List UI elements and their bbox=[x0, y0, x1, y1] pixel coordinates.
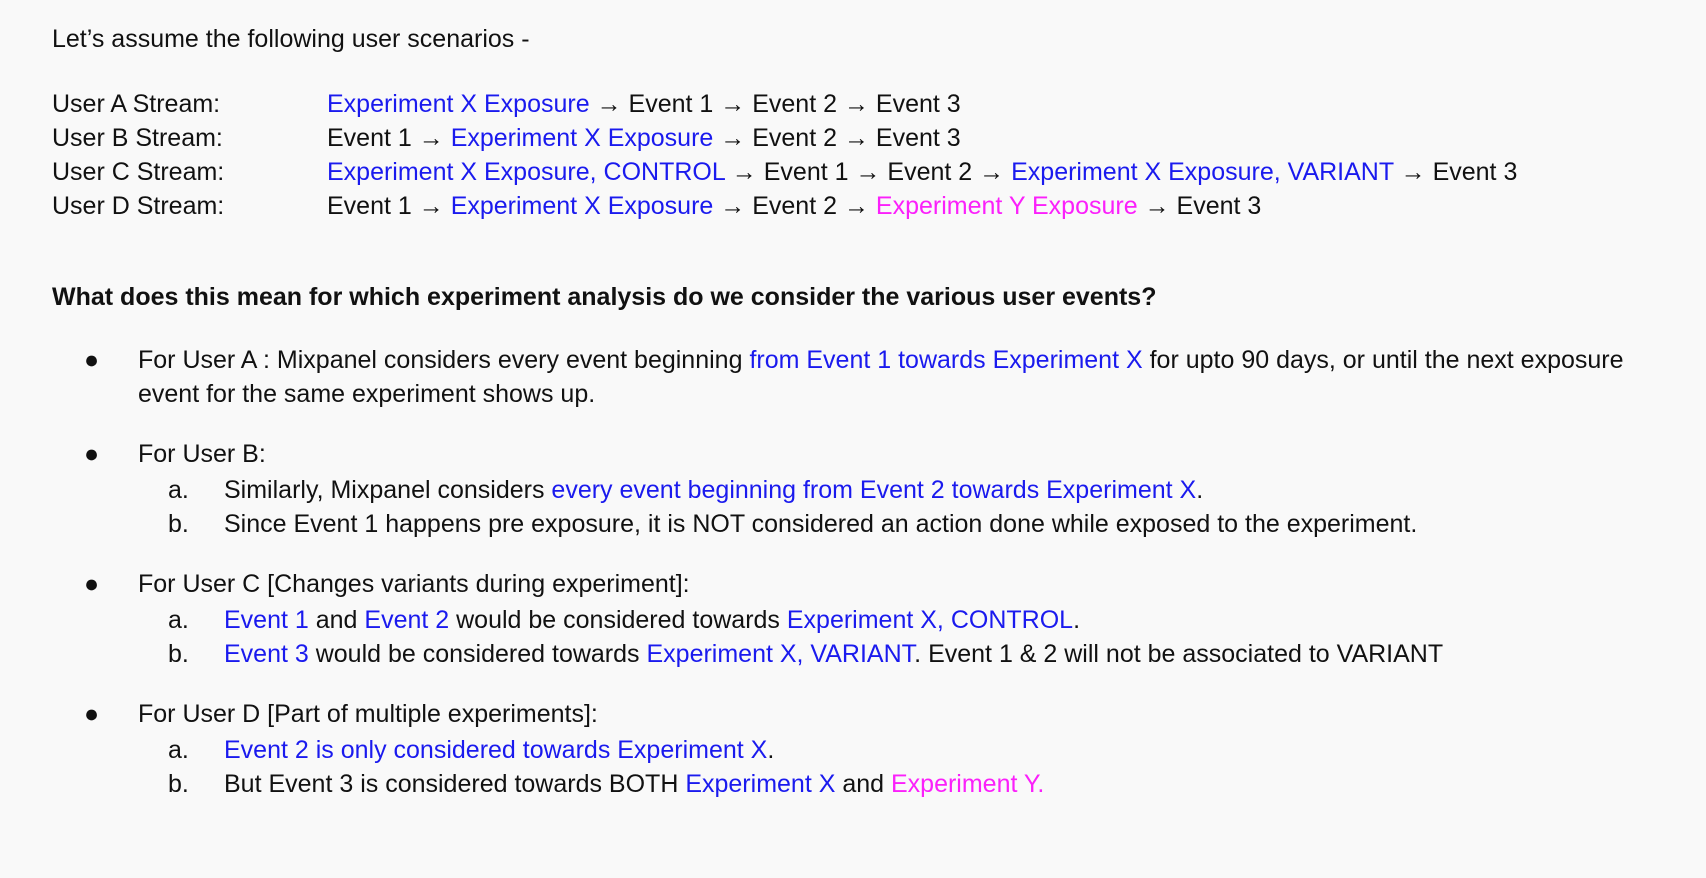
text-segment: → bbox=[1138, 192, 1177, 220]
text-segment: Experiment X Exposure bbox=[451, 192, 714, 220]
text-segment: . Event 1 & 2 will not be associated to … bbox=[914, 640, 1443, 668]
sub-item-text: Since Event 1 happens pre exposure, it i… bbox=[224, 510, 1417, 538]
text-segment: Event 2 bbox=[752, 124, 837, 152]
text-segment: → bbox=[725, 158, 764, 186]
text-segment: every event beginning from Event 2 towar… bbox=[551, 476, 1196, 504]
sub-item: b.But Event 3 is considered towards BOTH… bbox=[52, 767, 1688, 801]
text-segment: Event 3 bbox=[224, 640, 309, 668]
text-segment: → bbox=[1394, 158, 1433, 186]
sub-item-text: Event 2 is only considered towards Exper… bbox=[224, 736, 774, 764]
sub-item-marker: b. bbox=[168, 507, 189, 541]
text-segment: Event 3 bbox=[876, 124, 961, 152]
user-stream-row: User D Stream:Event 1 → Experiment X Exp… bbox=[52, 189, 1688, 223]
sub-item-text: But Event 3 is considered towards BOTH E… bbox=[224, 770, 1044, 798]
text-segment: would be considered towards bbox=[309, 640, 647, 668]
text-segment: Experiment X Exposure bbox=[451, 124, 714, 152]
sub-item: a.Event 2 is only considered towards Exp… bbox=[52, 733, 1688, 767]
user-stream-label: User B Stream: bbox=[52, 121, 327, 155]
text-segment: Experiment Y Exposure bbox=[876, 192, 1138, 220]
text-segment: → bbox=[837, 124, 876, 152]
text-segment: . bbox=[767, 736, 774, 764]
user-stream-list: User A Stream:Experiment X Exposure → Ev… bbox=[52, 87, 1688, 223]
text-segment: For User B: bbox=[138, 440, 266, 468]
bullet-item-text: For User C [Changes variants during expe… bbox=[138, 570, 690, 598]
text-segment: Experiment X Exposure bbox=[327, 90, 590, 118]
bullet-item: ●For User B: bbox=[52, 437, 1688, 471]
user-stream-sequence: Event 1 → Experiment X Exposure → Event … bbox=[327, 121, 961, 155]
text-segment: Event 2 bbox=[752, 192, 837, 220]
section-question-heading: What does this mean for which experiment… bbox=[52, 281, 1688, 313]
text-segment: Experiment Y. bbox=[891, 770, 1044, 798]
intro-paragraph: Let’s assume the following user scenario… bbox=[52, 22, 1688, 57]
user-stream-row: User B Stream:Event 1 → Experiment X Exp… bbox=[52, 121, 1688, 155]
text-segment: Since Event 1 happens pre exposure, it i… bbox=[224, 510, 1417, 538]
bullet-item: ●For User C [Changes variants during exp… bbox=[52, 567, 1688, 601]
sub-item-list: a.Event 2 is only considered towards Exp… bbox=[52, 733, 1688, 801]
text-segment: would be considered towards bbox=[449, 606, 787, 634]
text-segment: Event 1 bbox=[327, 192, 412, 220]
sub-item-marker: b. bbox=[168, 637, 189, 671]
text-segment: → bbox=[590, 90, 629, 118]
sub-item-list: a.Similarly, Mixpanel considers every ev… bbox=[52, 473, 1688, 541]
bullet-block: ●For User B:a.Similarly, Mixpanel consid… bbox=[52, 437, 1688, 541]
user-stream-label: User D Stream: bbox=[52, 189, 327, 223]
text-segment: For User C [Changes variants during expe… bbox=[138, 570, 690, 598]
sub-item-marker: a. bbox=[168, 603, 189, 637]
bullet-block: ●For User A : Mixpanel considers every e… bbox=[52, 343, 1688, 411]
bullet-item: ●For User D [Part of multiple experiment… bbox=[52, 697, 1688, 731]
text-segment: → bbox=[713, 124, 752, 152]
user-stream-sequence: Experiment X Exposure → Event 1 → Event … bbox=[327, 87, 961, 121]
text-segment: → bbox=[837, 90, 876, 118]
text-segment: → bbox=[412, 192, 451, 220]
text-segment: Event 1 bbox=[224, 606, 309, 634]
bullet-item-text: For User B: bbox=[138, 440, 266, 468]
text-segment: from Event 1 towards Experiment X bbox=[749, 346, 1142, 374]
explanation-bullet-list: ●For User A : Mixpanel considers every e… bbox=[52, 343, 1688, 801]
user-stream-row: User A Stream:Experiment X Exposure → Ev… bbox=[52, 87, 1688, 121]
text-segment: → bbox=[972, 158, 1011, 186]
text-segment: Experiment X Exposure, CONTROL bbox=[327, 158, 725, 186]
bullet-block: ●For User C [Changes variants during exp… bbox=[52, 567, 1688, 671]
text-segment: and bbox=[309, 606, 365, 634]
text-segment: Event 1 bbox=[327, 124, 412, 152]
user-stream-sequence: Experiment X Exposure, CONTROL → Event 1… bbox=[327, 155, 1517, 189]
user-stream-row: User C Stream:Experiment X Exposure, CON… bbox=[52, 155, 1688, 189]
text-segment: Event 1 bbox=[764, 158, 849, 186]
text-segment: → bbox=[837, 192, 876, 220]
text-segment: Event 2 is only considered towards Exper… bbox=[224, 736, 767, 764]
sub-item-text: Event 1 and Event 2 would be considered … bbox=[224, 606, 1080, 634]
text-segment: Event 2 bbox=[364, 606, 449, 634]
text-segment: Experiment X, VARIANT bbox=[646, 640, 914, 668]
bullet-marker-icon: ● bbox=[84, 437, 99, 471]
text-segment: → bbox=[412, 124, 451, 152]
bullet-item: ●For User A : Mixpanel considers every e… bbox=[52, 343, 1688, 411]
text-segment: For User D [Part of multiple experiments… bbox=[138, 700, 598, 728]
text-segment: Experiment X Exposure, VARIANT bbox=[1011, 158, 1394, 186]
text-segment: . bbox=[1073, 606, 1080, 634]
sub-item-marker: b. bbox=[168, 767, 189, 801]
text-segment: For User A : Mixpanel considers every ev… bbox=[138, 346, 749, 374]
bullet-item-text: For User A : Mixpanel considers every ev… bbox=[138, 346, 1624, 408]
sub-item-text: Event 3 would be considered towards Expe… bbox=[224, 640, 1443, 668]
user-stream-label: User C Stream: bbox=[52, 155, 327, 189]
user-stream-label: User A Stream: bbox=[52, 87, 327, 121]
sub-item-text: Similarly, Mixpanel considers every even… bbox=[224, 476, 1203, 504]
text-segment: But Event 3 is considered towards BOTH bbox=[224, 770, 685, 798]
sub-item: a.Similarly, Mixpanel considers every ev… bbox=[52, 473, 1688, 507]
user-stream-sequence: Event 1 → Experiment X Exposure → Event … bbox=[327, 189, 1261, 223]
text-segment: Event 3 bbox=[1177, 192, 1262, 220]
sub-item-marker: a. bbox=[168, 733, 189, 767]
sub-item: b.Event 3 would be considered towards Ex… bbox=[52, 637, 1688, 671]
sub-item: b.Since Event 1 happens pre exposure, it… bbox=[52, 507, 1688, 541]
text-segment: Event 1 bbox=[629, 90, 714, 118]
bullet-marker-icon: ● bbox=[84, 567, 99, 601]
text-segment: → bbox=[713, 192, 752, 220]
text-segment: Similarly, Mixpanel considers bbox=[224, 476, 551, 504]
bullet-marker-icon: ● bbox=[84, 697, 99, 731]
text-segment: Experiment X bbox=[685, 770, 835, 798]
bullet-item-text: For User D [Part of multiple experiments… bbox=[138, 700, 598, 728]
text-segment: → bbox=[849, 158, 888, 186]
text-segment: Experiment X, CONTROL bbox=[787, 606, 1073, 634]
text-segment: Event 2 bbox=[752, 90, 837, 118]
document-page: Let’s assume the following user scenario… bbox=[0, 0, 1706, 878]
text-segment: and bbox=[835, 770, 891, 798]
text-segment: Event 3 bbox=[1433, 158, 1518, 186]
bullet-marker-icon: ● bbox=[84, 343, 99, 377]
sub-item: a.Event 1 and Event 2 would be considere… bbox=[52, 603, 1688, 637]
text-segment: Event 3 bbox=[876, 90, 961, 118]
text-segment: → bbox=[713, 90, 752, 118]
text-segment: . bbox=[1196, 476, 1203, 504]
sub-item-list: a.Event 1 and Event 2 would be considere… bbox=[52, 603, 1688, 671]
bullet-block: ●For User D [Part of multiple experiment… bbox=[52, 697, 1688, 801]
text-segment: Event 2 bbox=[887, 158, 972, 186]
sub-item-marker: a. bbox=[168, 473, 189, 507]
